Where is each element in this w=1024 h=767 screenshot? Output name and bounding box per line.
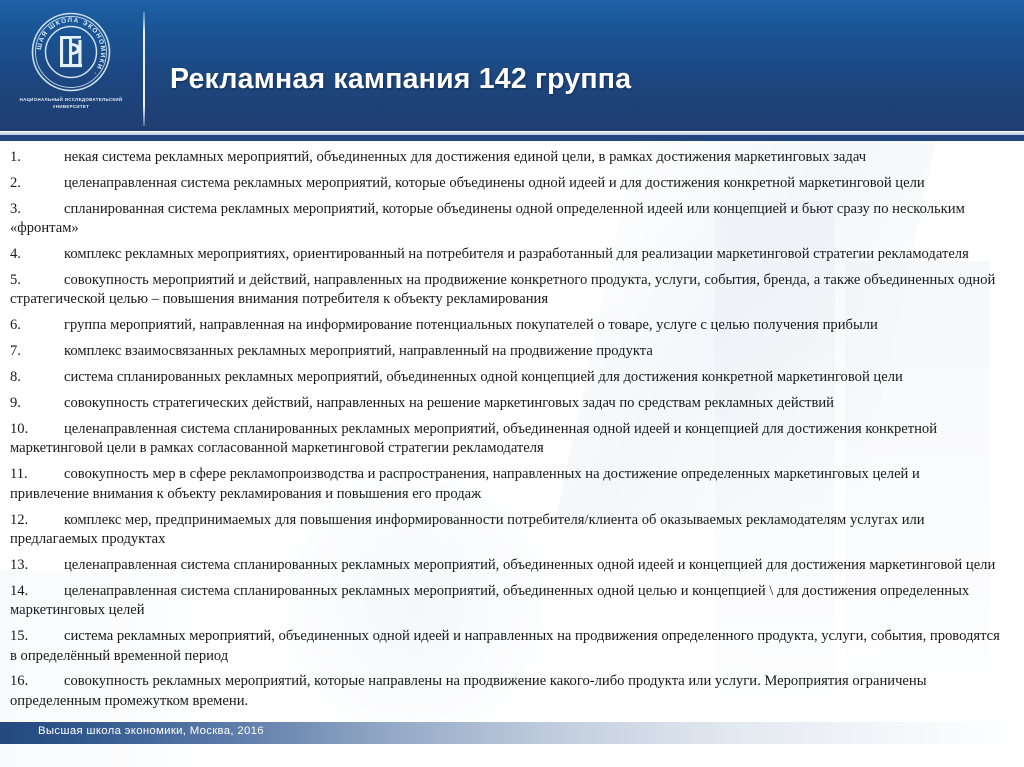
list-item-number: 8. [10,368,64,387]
list-item: 12.комплекс мер, предпринимаемых для пов… [0,511,1024,550]
list-item-number: 6. [10,316,64,335]
list-item-text: система спланированных рекламных меропри… [64,369,903,385]
list-item-number: 7. [10,342,64,361]
list-item-text: группа мероприятий, направленная на инфо… [64,317,878,333]
list-item-number: 16. [10,672,64,691]
list-item-number: 14. [10,582,64,601]
list-item: 1.некая система рекламных мероприятий, о… [0,148,1024,167]
list-item-text: целенаправленная система рекламных мероп… [64,175,925,191]
list-item-text: целенаправленная система спланированных … [10,583,969,618]
list-item-number: 5. [10,271,64,290]
list-item-number: 12. [10,511,64,530]
definition-list: 1.некая система рекламных мероприятий, о… [0,148,1024,718]
list-item: 2.целенаправленная система рекламных мер… [0,174,1024,193]
hse-logo: · ВЫСШАЯ ШКОЛА ЭКОНОМИКИ · НАЦИОНАЛЬНЫЙ … [12,8,130,123]
list-item-number: 15. [10,627,64,646]
list-item-number: 9. [10,394,64,413]
list-item-text: спланированная система рекламных меропри… [10,201,965,236]
list-item: 14.целенаправленная система спланированн… [0,582,1024,621]
list-item-text: целенаправленная система спланированных … [10,421,937,456]
list-item-text: целенаправленная система спланированных … [64,557,995,573]
list-item-text: совокупность стратегических действий, на… [64,395,834,411]
list-item-text: система рекламных мероприятий, объединен… [10,628,1000,663]
slide: · ВЫСШАЯ ШКОЛА ЭКОНОМИКИ · НАЦИОНАЛЬНЫЙ … [0,0,1024,767]
list-item-number: 1. [10,148,64,167]
list-item: 3.спланированная система рекламных мероп… [0,200,1024,239]
header-divider [143,12,145,126]
page-title: Рекламная кампания 142 группа [170,63,990,96]
list-item: 9.совокупность стратегических действий, … [0,394,1024,413]
list-item-text: комплекс рекламных мероприятиях, ориенти… [64,246,969,262]
header-rule-dark [0,135,1024,141]
list-item-number: 13. [10,556,64,575]
list-item-text: комплекс взаимосвязанных рекламных мероп… [64,343,653,359]
list-item-text: совокупность мероприятий и действий, нап… [10,272,995,307]
list-item: 7.комплекс взаимосвязанных рекламных мер… [0,342,1024,361]
list-item: 11.совокупность мер в сфере рекламопроиз… [0,465,1024,504]
list-item-text: совокупность рекламных мероприятий, кото… [10,673,927,708]
list-item-number: 3. [10,200,64,219]
list-item-text: комплекс мер, предпринимаемых для повыше… [10,512,925,547]
list-item: 16.совокупность рекламных мероприятий, к… [0,672,1024,711]
list-item-number: 2. [10,174,64,193]
list-item-text: совокупность мер в сфере рекламопроизвод… [10,466,920,501]
list-item-text: некая система рекламных мероприятий, объ… [64,149,866,165]
list-item-number: 11. [10,465,64,484]
list-item: 5.совокупность мероприятий и действий, н… [0,271,1024,310]
list-item: 13.целенаправленная система спланированн… [0,556,1024,575]
list-item-number: 10. [10,420,64,439]
list-item: 10.целенаправленная система спланированн… [0,420,1024,459]
hse-logo-caption: НАЦИОНАЛЬНЫЙ ИССЛЕДОВАТЕЛЬСКИЙ УНИВЕРСИТ… [12,97,130,111]
hse-seal-icon: · ВЫСШАЯ ШКОЛА ЭКОНОМИКИ · [29,10,113,94]
list-item: 6.группа мероприятий, направленная на ин… [0,316,1024,335]
list-item-number: 4. [10,245,64,264]
list-item: 4.комплекс рекламных мероприятиях, ориен… [0,245,1024,264]
footer-text: Высшая школа экономики, Москва, 2016 [38,725,264,737]
list-item: 15.система рекламных мероприятий, объеди… [0,627,1024,666]
list-item: 8.система спланированных рекламных мероп… [0,368,1024,387]
